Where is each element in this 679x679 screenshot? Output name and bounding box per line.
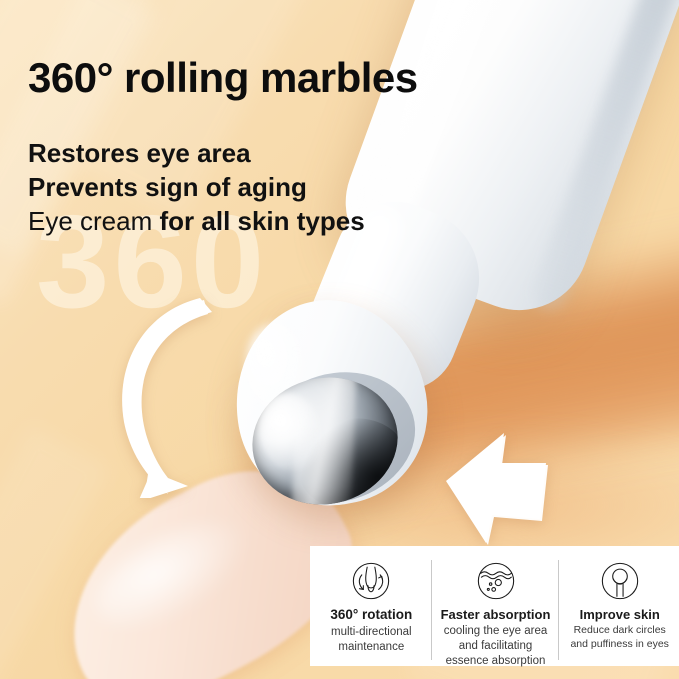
feature-item-absorption: Faster absorption cooling the eye area a… (431, 554, 559, 668)
feature-desc: cooling the eye area and facilitating es… (444, 624, 548, 668)
benefit-list: Restores eye area Prevents sign of aging… (28, 137, 365, 238)
arrow-up-left-icon (430, 425, 570, 555)
scene: 360 360° rolling marbles (0, 0, 679, 679)
feature-desc-line: and puffiness in eyes (570, 638, 668, 651)
benefit-line-1: Restores eye area (28, 137, 365, 171)
feature-desc-line: multi-directional (331, 625, 412, 640)
benefit-line-3-regular: Eye cream (28, 206, 160, 236)
feature-title: 360° rotation (330, 607, 412, 624)
feature-desc-line: and facilitating (444, 639, 548, 654)
feature-desc: multi-directional maintenance (331, 625, 412, 654)
water-bubbles-icon (473, 558, 519, 604)
feature-desc-line: Reduce dark circles (570, 624, 668, 637)
feature-title: Improve skin (580, 607, 660, 623)
feature-item-improve-skin: Improve skin Reduce dark circles and puf… (558, 554, 679, 651)
feature-desc-line: cooling the eye area (444, 624, 548, 639)
benefit-line-3: Eye cream for all skin types (28, 205, 365, 239)
feature-desc: Reduce dark circles and puffiness in eye… (570, 624, 668, 651)
feature-title: Faster absorption (441, 607, 551, 623)
feature-desc-line: maintenance (331, 640, 412, 655)
page-title: 360° rolling marbles (28, 57, 418, 99)
feature-panel: 360° rotation multi-directional maintena… (310, 546, 679, 666)
roller-applicator-icon (597, 558, 643, 604)
benefit-line-2: Prevents sign of aging (28, 171, 365, 205)
feature-desc-line: essence absorption (444, 654, 548, 669)
rotation-roller-icon (348, 558, 394, 604)
benefit-line-3-bold: for all skin types (160, 206, 365, 236)
curved-arrow-down-icon (108, 288, 278, 498)
feature-item-rotation: 360° rotation multi-directional maintena… (310, 554, 431, 654)
